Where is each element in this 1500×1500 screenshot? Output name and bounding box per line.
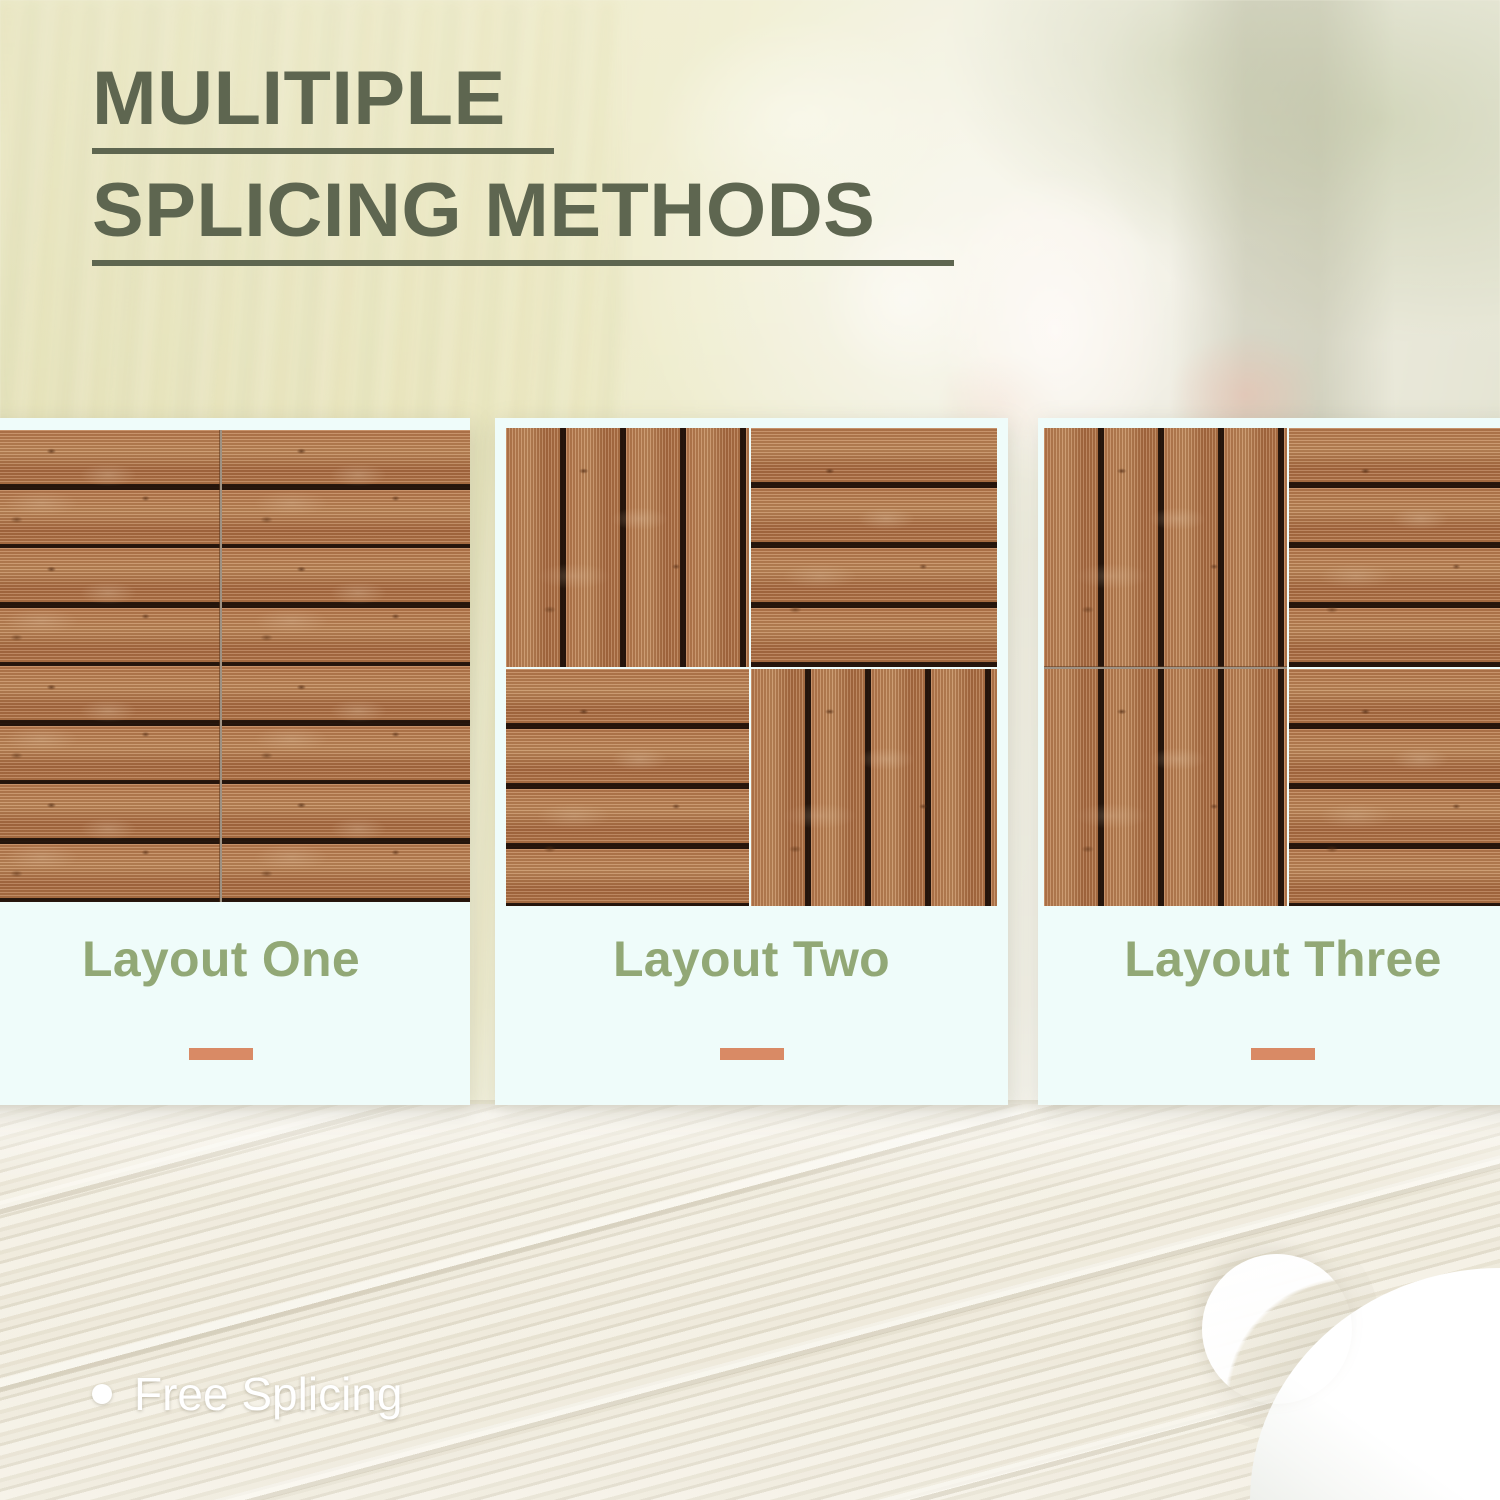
accent-bar-two xyxy=(720,1048,784,1060)
tile-seam xyxy=(219,430,222,902)
title-line-2: SPLICING METHODS xyxy=(92,170,1112,252)
feature-bullet: Free Splicing xyxy=(92,1367,402,1421)
card-label-one: Layout One xyxy=(0,930,470,988)
wood-tile xyxy=(0,666,220,784)
page-title: MULITIPLE SPLICING METHODS xyxy=(92,58,1092,266)
wood-tile xyxy=(751,669,997,906)
layout-card-two[interactable]: Layout Two xyxy=(495,418,1008,1105)
wood-tile xyxy=(506,428,749,667)
card-label-two: Layout Two xyxy=(495,930,1008,988)
wood-tile xyxy=(1044,669,1287,906)
title-underline-1 xyxy=(92,148,554,154)
title-underline-2 xyxy=(92,260,954,266)
tile-preview-one xyxy=(0,430,470,902)
wood-tile xyxy=(506,669,749,906)
product-feature-graphic: MULITIPLE SPLICING METHODS Layout One La… xyxy=(0,0,1500,1500)
tile-seam xyxy=(1044,666,1287,669)
accent-bar-three xyxy=(1251,1048,1315,1060)
bullet-dot-icon xyxy=(92,1384,112,1404)
wood-tile xyxy=(0,430,220,548)
wood-tile xyxy=(222,784,470,902)
tile-preview-two xyxy=(506,428,997,906)
wood-tile xyxy=(222,666,470,784)
wood-tile xyxy=(222,548,470,666)
accent-bar-one xyxy=(189,1048,253,1060)
layout-card-one[interactable]: Layout One xyxy=(0,418,470,1105)
wood-tile xyxy=(0,548,220,666)
wood-tile xyxy=(0,784,220,902)
title-line-1: MULITIPLE xyxy=(92,58,1112,140)
page-curl-fold xyxy=(1202,1254,1352,1404)
wood-tile xyxy=(222,430,470,548)
card-label-three: Layout Three xyxy=(1038,930,1500,988)
tile-preview-three xyxy=(1044,428,1500,906)
layout-card-three[interactable]: Layout Three xyxy=(1038,418,1500,1105)
wood-tile xyxy=(1289,428,1500,667)
bullet-text: Free Splicing xyxy=(134,1367,402,1421)
wood-tile xyxy=(1289,669,1500,906)
wood-tile xyxy=(1044,428,1287,667)
wood-tile xyxy=(751,428,997,667)
